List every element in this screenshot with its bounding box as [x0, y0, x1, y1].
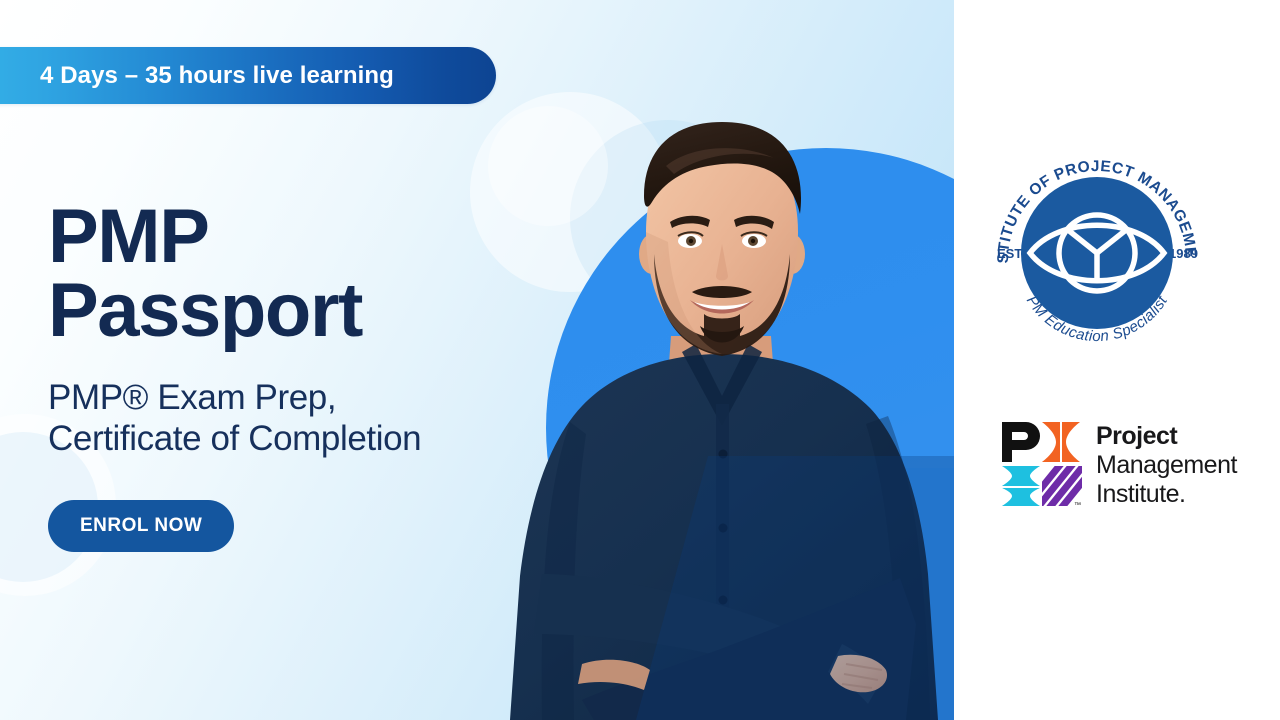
duration-badge: 4 Days – 35 hours live learning — [0, 47, 496, 104]
page-subtitle: PMP® Exam Prep, Certificate of Completio… — [48, 377, 568, 460]
duration-badge-label: 4 Days – 35 hours live learning — [40, 62, 394, 90]
page-title-line-2: Passport — [48, 274, 568, 348]
pmi-grid-mark-icon: ™ — [1000, 420, 1082, 508]
pmi-word-project: Project — [1096, 422, 1237, 451]
hero-copy: PMP Passport PMP® Exam Prep, Certificate… — [48, 200, 568, 552]
ipm-year-label: 1989 — [1169, 246, 1198, 261]
page-title: PMP Passport — [48, 200, 568, 349]
pmi-letter-p — [1002, 422, 1040, 462]
hero-panel: 4 Days – 35 hours live learning PMP Pass… — [0, 0, 954, 720]
page-subtitle-line-2: Certificate of Completion — [48, 418, 568, 459]
pmi-logo: ™ Project Management Institute. — [1000, 420, 1237, 509]
pmi-orange-shape — [1042, 422, 1080, 462]
pmi-cyan-shape — [1002, 466, 1040, 506]
pmi-word-institute: Institute. — [1096, 480, 1237, 509]
pmi-word-management: Management — [1096, 451, 1237, 480]
enrol-now-button[interactable]: ENROL NOW — [48, 500, 234, 552]
pmi-wordmark: Project Management Institute. — [1096, 420, 1237, 509]
page-subtitle-line-1: PMP® Exam Prep, — [48, 377, 568, 418]
logo-column: INSTITUTE OF PROJECT MANAGEMENT PM Educa… — [954, 0, 1280, 720]
ipm-est-label: EST. — [997, 246, 1024, 261]
pmi-trademark-icon: ™ — [1074, 502, 1081, 508]
ipm-logo: INSTITUTE OF PROJECT MANAGEMENT PM Educa… — [986, 142, 1208, 364]
page-title-line-1: PMP — [48, 200, 568, 274]
promo-banner: 4 Days – 35 hours live learning PMP Pass… — [0, 0, 1280, 720]
